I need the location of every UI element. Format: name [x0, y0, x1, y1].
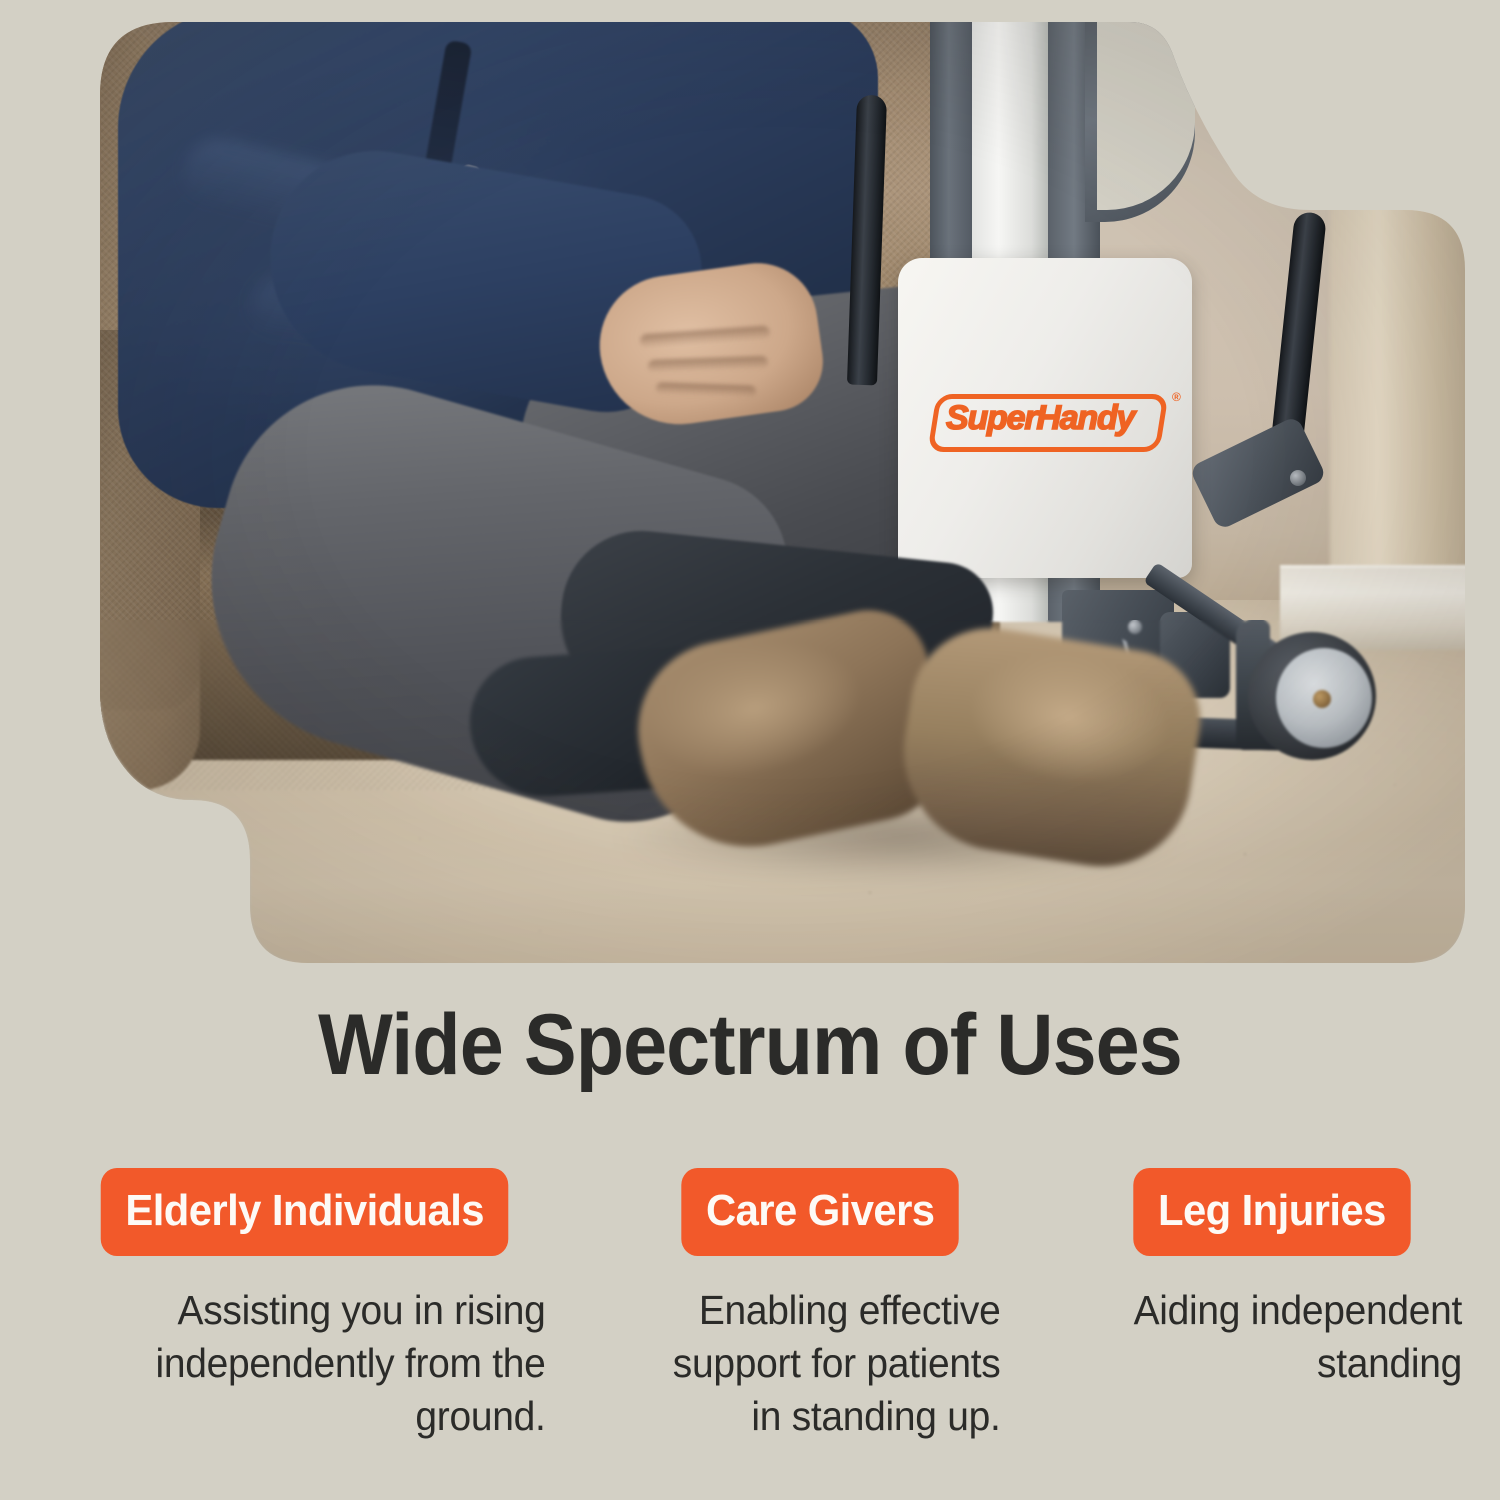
badge-row: Elderly Individuals [58, 1168, 558, 1256]
description-leg-injuries: Aiding independent standing [1082, 1284, 1462, 1390]
badge-row: Care Givers [630, 1168, 1010, 1256]
logo-wordmark: SuperHandy [946, 399, 1160, 438]
badge-elderly-individuals[interactable]: Elderly Individuals [101, 1168, 509, 1256]
description-elderly-individuals: Assisting you in rising independently fr… [71, 1284, 546, 1443]
use-case-column-elderly: Elderly Individuals Assisting you in ris… [58, 1168, 558, 1443]
use-case-column-care-givers: Care Givers Enabling effective support f… [630, 1168, 1010, 1443]
superhandy-logo: SuperHandy ® [932, 388, 1184, 460]
bracket-bolt [1290, 470, 1306, 486]
use-case-columns: Elderly Individuals Assisting you in ris… [0, 1168, 1500, 1443]
description-care-givers: Enabling effective support for patients … [640, 1284, 1001, 1443]
hero-photo: SuperHandy ® [0, 0, 1500, 985]
curtain [1330, 0, 1470, 620]
hero-photo-mask: SuperHandy ® [0, 0, 1500, 985]
caster-wheel-bolt [1313, 690, 1331, 708]
registered-trademark-icon: ® [1172, 390, 1181, 404]
use-case-column-leg-injuries: Leg Injuries Aiding independent standing [1072, 1168, 1472, 1443]
badge-leg-injuries[interactable]: Leg Injuries [1133, 1168, 1410, 1256]
badge-row: Leg Injuries [1072, 1168, 1472, 1256]
lift-mechanism-pin [1128, 620, 1142, 634]
page-title: Wide Spectrum of Uses [60, 997, 1440, 1093]
badge-care-givers[interactable]: Care Givers [681, 1168, 959, 1256]
